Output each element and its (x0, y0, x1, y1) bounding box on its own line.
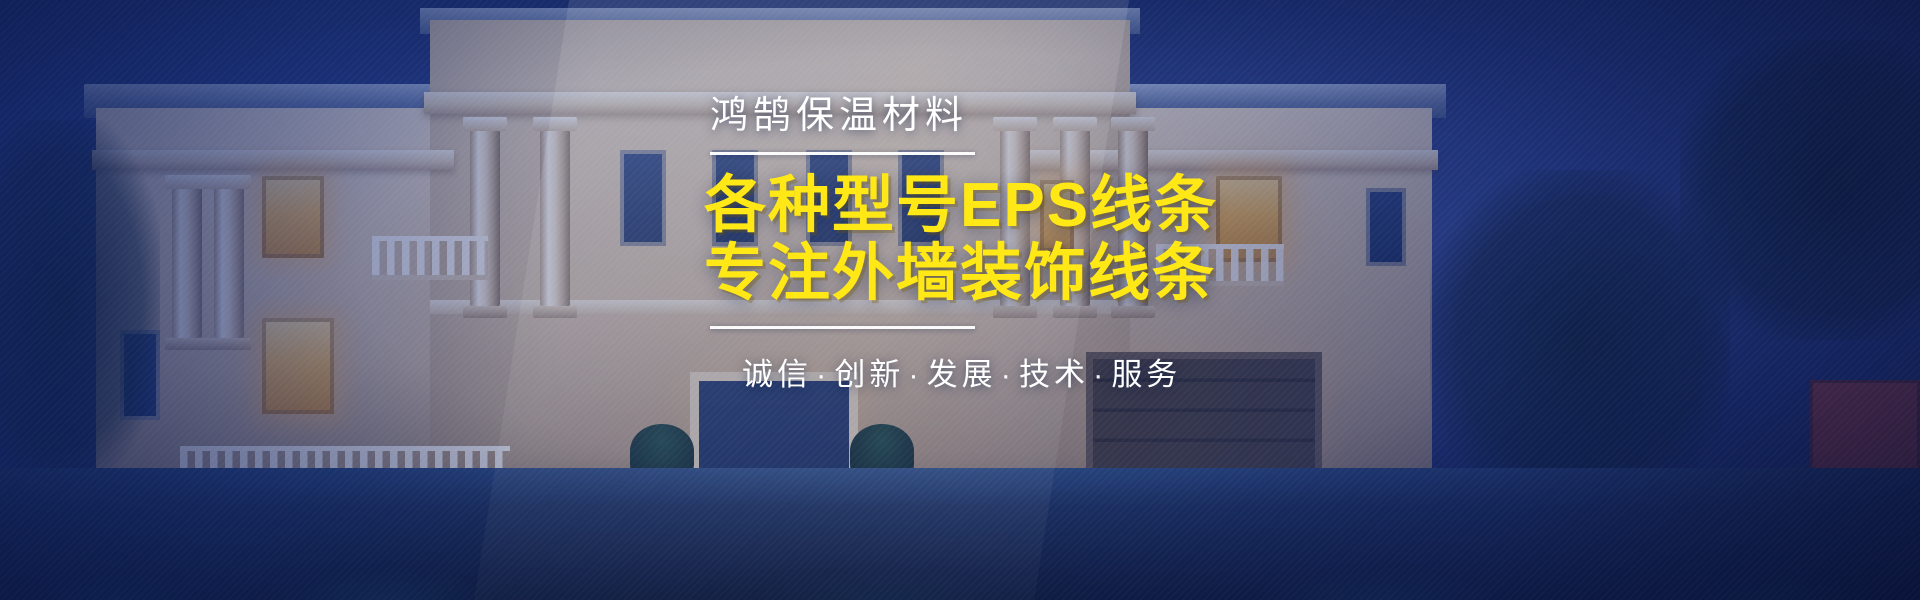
tagline: 诚信·创新·发展·技术·服务 (742, 349, 1320, 394)
tagline-item: 创新 (834, 357, 904, 392)
headline-line-2: 专注外墙装饰线条 (704, 241, 1320, 307)
tagline-item: 诚信 (742, 357, 812, 392)
brand-name: 鸿鹄保温材料 (710, 96, 1320, 138)
tagline-item: 技术 (1019, 357, 1089, 392)
tagline-separator: · (1089, 357, 1111, 392)
banner-copy: 鸿鹄保温材料 各种型号EPS线条 专注外墙装饰线条 诚信·创新·发展·技术·服务 (700, 96, 1320, 394)
tagline-item: 服务 (1111, 357, 1181, 392)
tagline-separator: · (997, 357, 1019, 392)
divider-top (710, 152, 975, 155)
hero-banner: 鸿鹄保温材料 各种型号EPS线条 专注外墙装饰线条 诚信·创新·发展·技术·服务 (0, 0, 1920, 600)
headline-line-1: 各种型号EPS线条 (704, 173, 1320, 239)
tagline-separator: · (904, 357, 926, 392)
divider-bottom (710, 326, 975, 329)
tagline-item: 发展 (927, 357, 997, 392)
tagline-separator: · (812, 357, 834, 392)
